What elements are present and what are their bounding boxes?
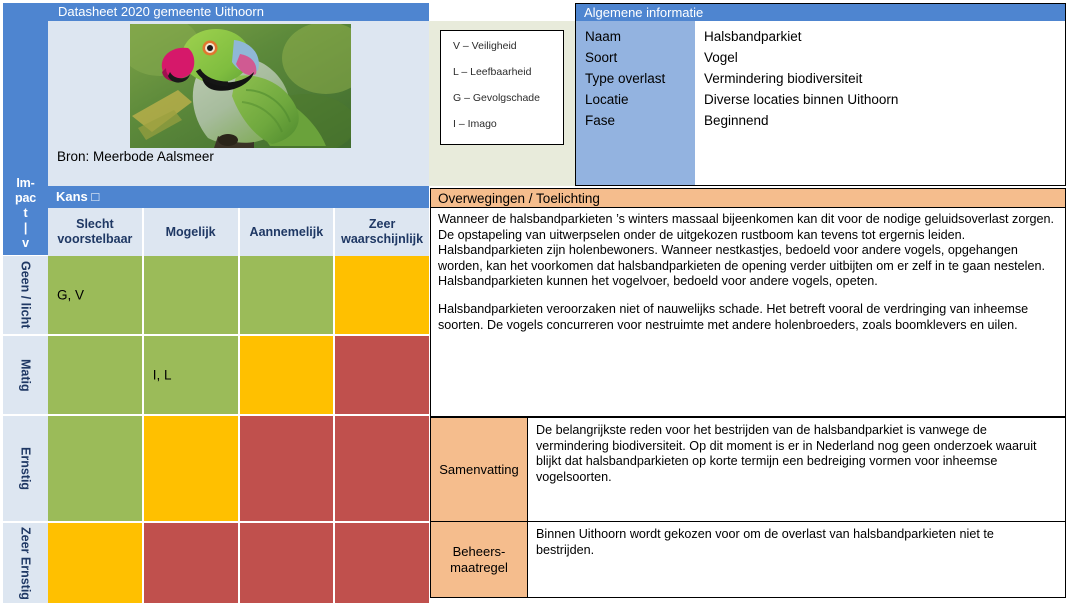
general-info-label-type-overlast: Type overlast	[576, 68, 695, 89]
impact-axis-line-3: |	[15, 221, 36, 236]
measure-label-line-2: maatregel	[450, 560, 508, 576]
matrix-row-label-matig: Matig	[3, 336, 48, 414]
general-info-title: Algemene informatie	[575, 3, 1066, 21]
general-info-row-soort: Soort Vogel	[576, 47, 1065, 68]
matrix-cell[interactable]	[48, 336, 144, 414]
general-info-value-naam: Halsbandparkiet	[695, 26, 802, 47]
general-info-label-naam: Naam	[576, 26, 695, 47]
matrix-cell[interactable]	[240, 336, 336, 414]
matrix-cell-mark: G, V	[57, 288, 84, 303]
summary-measure-block: Samenvatting De belangrijkste reden voor…	[430, 417, 1066, 598]
general-info-rows: Naam Halsbandparkiet Soort Vogel Type ov…	[576, 26, 1065, 186]
general-info-value-soort: Vogel	[695, 47, 738, 68]
matrix-row: Matig I, L	[3, 336, 429, 416]
matrix-row: Geen / licht G, V	[3, 256, 429, 336]
measure-label: Beheers- maatregel	[431, 522, 528, 597]
matrix-column-header-1: Mogelijk	[144, 208, 240, 256]
matrix-column-header-0: Slecht voorstelbaar	[48, 208, 144, 256]
matrix-row: Zeer Ernstig	[3, 523, 429, 603]
matrix-cell[interactable]	[144, 523, 240, 603]
matrix-cell[interactable]	[335, 256, 429, 334]
matrix-cell[interactable]	[335, 416, 429, 521]
legend-item-gevolgschade: G – Gevolgschade	[453, 92, 563, 104]
kans-axis-label: Kans □	[48, 186, 429, 208]
matrix-cell[interactable]	[144, 416, 240, 521]
general-info-row-locatie: Locatie Diverse locaties binnen Uithoorn	[576, 89, 1065, 110]
impact-axis-label: Im- pac t | v	[3, 3, 48, 255]
matrix-cell[interactable]	[240, 523, 336, 603]
matrix-row-label-zeer-ernstig: Zeer Ernstig	[3, 523, 48, 603]
general-info-label-fase: Fase	[576, 110, 695, 131]
measure-row: Beheers- maatregel Binnen Uithoorn wordt…	[431, 522, 1065, 597]
general-info-label-locatie: Locatie	[576, 89, 695, 110]
impact-axis-line-0: Im-	[15, 176, 36, 191]
general-info-row-naam: Naam Halsbandparkiet	[576, 26, 1065, 47]
matrix-cell[interactable]	[335, 523, 429, 603]
bird-photo	[130, 24, 351, 148]
impact-axis-line-2: t	[15, 206, 36, 221]
matrix-column-headers: Slecht voorstelbaar Mogelijk Aannemelijk…	[48, 208, 429, 256]
legend-item-veiligheid: V – Veiligheid	[453, 40, 563, 52]
matrix-cell[interactable]	[48, 523, 144, 603]
summary-text: De belangrijkste reden voor het bestrijd…	[528, 418, 1065, 521]
considerations-body: Wanneer de halsbandparkieten ’s winters …	[430, 208, 1066, 417]
matrix-cell[interactable]: G, V	[48, 256, 144, 334]
general-info-row-fase: Fase Beginnend	[576, 110, 1065, 131]
general-info-label-soort: Soort	[576, 47, 695, 68]
matrix-cell[interactable]	[48, 416, 144, 521]
considerations-paragraph-1: Wanneer de halsbandparkieten ’s winters …	[438, 212, 1057, 290]
summary-label: Samenvatting	[431, 418, 528, 521]
matrix-cell-mark: I, L	[153, 368, 172, 383]
matrix-body: Geen / licht G, V Matig I, L Ernstig Zee…	[3, 256, 429, 605]
matrix-cell[interactable]	[335, 336, 429, 414]
general-info-row-type-overlast: Type overlast Vermindering biodiversitei…	[576, 68, 1065, 89]
matrix-row-label-ernstig: Ernstig	[3, 416, 48, 521]
legend-item-imago: I – Imago	[453, 118, 563, 130]
matrix-column-header-3: Zeer waarschijnlijk	[335, 208, 429, 256]
matrix-column-header-2: Aannemelijk	[240, 208, 336, 256]
matrix-cell[interactable]	[144, 256, 240, 334]
matrix-cell[interactable]	[240, 416, 336, 521]
page-title: Datasheet 2020 gemeente Uithoorn	[48, 3, 429, 21]
photo-caption: Bron: Meerbode Aalsmeer	[57, 146, 357, 168]
summary-row: Samenvatting De belangrijkste reden voor…	[431, 418, 1065, 522]
general-info-value-type-overlast: Vermindering biodiversiteit	[695, 68, 862, 89]
datasheet-page: Im- pac t | v Datasheet 2020 gemeente Ui…	[0, 0, 1069, 608]
considerations-title: Overwegingen / Toelichting	[430, 188, 1066, 208]
general-info-value-locatie: Diverse locaties binnen Uithoorn	[695, 89, 898, 110]
legend-item-leefbaarheid: L – Leefbaarheid	[453, 66, 563, 78]
impact-axis-line-4: v	[15, 236, 36, 251]
considerations-paragraph-2: Halsbandparkieten veroorzaken niet of na…	[438, 302, 1057, 333]
matrix-cell[interactable]: I, L	[144, 336, 240, 414]
matrix-row-label-geen-licht: Geen / licht	[3, 256, 48, 334]
general-info-value-fase: Beginnend	[695, 110, 769, 131]
impact-axis-line-1: pac	[15, 191, 36, 206]
measure-label-line-1: Beheers-	[450, 544, 508, 560]
matrix-cell[interactable]	[240, 256, 336, 334]
measure-text: Binnen Uithoorn wordt gekozen voor om de…	[528, 522, 1065, 597]
matrix-row: Ernstig	[3, 416, 429, 523]
legend-box: V – Veiligheid L – Leefbaarheid G – Gevo…	[440, 30, 564, 145]
